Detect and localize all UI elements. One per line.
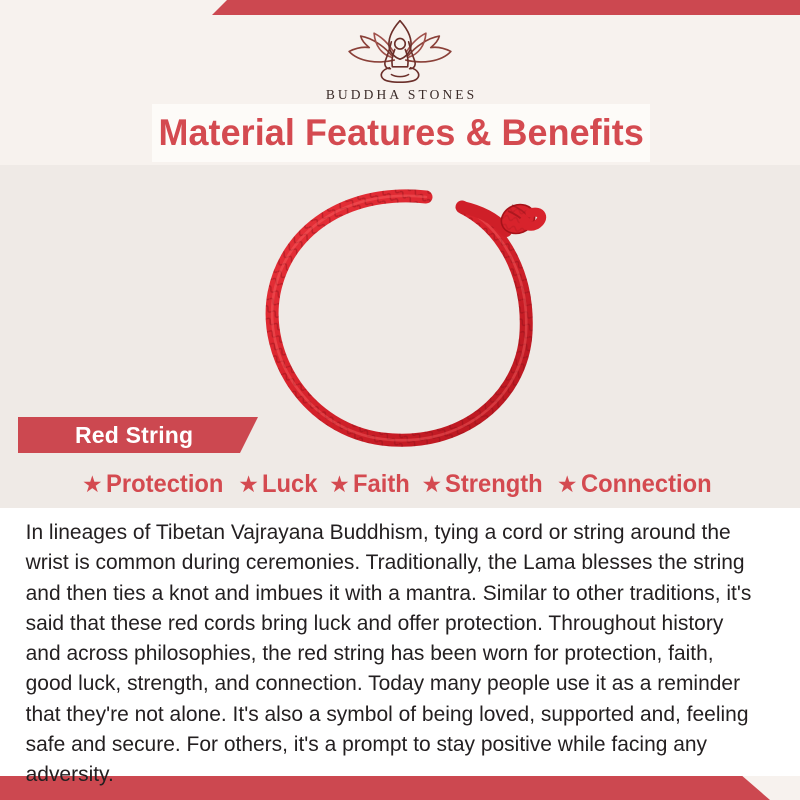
star-icon: ★ (82, 473, 103, 496)
description-panel: In lineages of Tibetan Vajrayana Buddhis… (0, 508, 800, 776)
lotus-meditation-icon (335, 14, 465, 86)
benefit-label: Protection (106, 470, 223, 499)
benefit-item: ★ Strength (422, 470, 548, 499)
product-label: Red String (18, 422, 193, 449)
brand-header: BUDDHA STONES (0, 14, 800, 103)
product-label-ribbon: Red String (18, 417, 258, 453)
page-title: Material Features & Benefits (158, 112, 643, 154)
benefit-label: Connection (581, 470, 712, 499)
benefit-item: ★ Faith (329, 470, 412, 499)
benefit-item: ★ Luck (238, 470, 320, 499)
star-icon: ★ (329, 473, 350, 496)
star-icon: ★ (238, 473, 259, 496)
benefit-item: ★ Connection (557, 470, 718, 499)
benefit-label: Strength (445, 470, 543, 499)
star-icon: ★ (557, 473, 578, 496)
poster-root: BUDDHA STONES Material Features & Benefi… (0, 0, 800, 800)
benefit-item: ★ Protection (82, 470, 229, 499)
star-icon: ★ (422, 473, 443, 496)
description-text: In lineages of Tibetan Vajrayana Buddhis… (0, 508, 788, 790)
red-string-bracelet-image (230, 167, 590, 467)
benefits-row: ★ Protection ★ Luck ★ Faith ★ Strength ★… (0, 466, 800, 502)
benefit-label: Faith (353, 470, 410, 499)
brand-name: BUDDHA STONES (0, 87, 800, 103)
hero-section (0, 165, 800, 508)
title-band: Material Features & Benefits (152, 104, 650, 162)
benefit-label: Luck (262, 470, 317, 499)
accent-bar-top-right (212, 0, 800, 15)
